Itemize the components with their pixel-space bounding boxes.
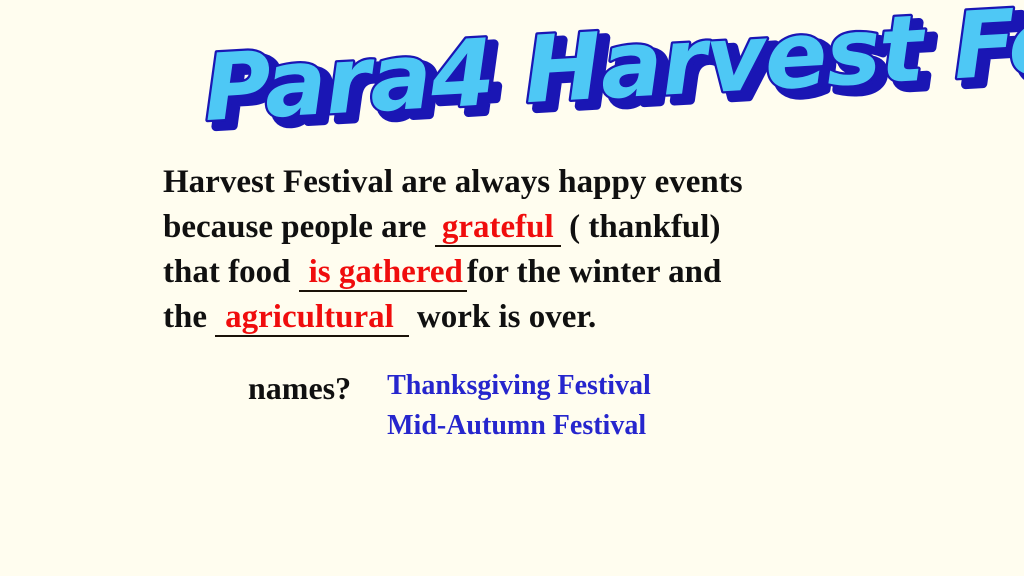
paragraph-line-2-suffix: ( thankful)	[561, 209, 721, 245]
wordart-svg: Para4 Harvest Festivals Para4 Harvest Fe…	[0, 2, 1024, 142]
blank-answer-is-gathered: is gathered	[299, 255, 467, 292]
paragraph-line-3: that food is gatheredfor the winter and	[163, 250, 883, 295]
paragraph-line-3-prefix: that food	[163, 254, 299, 290]
paragraph-line-1-text: Harvest Festival are always happy events	[163, 164, 743, 200]
paragraph-line-1: Harvest Festival are always happy events	[163, 160, 883, 205]
festival-name-1: Thanksgiving Festival	[387, 366, 651, 406]
question-answer-block: names? Thanksgiving Festival Mid-Autumn …	[248, 366, 651, 446]
question-prompt: names?	[248, 366, 387, 408]
slide-canvas: Para4 Harvest Festivals Para4 Harvest Fe…	[0, 0, 1024, 576]
paragraph-line-2-prefix: because people are	[163, 209, 435, 245]
blank-answer-grateful: grateful	[435, 210, 561, 247]
festival-name-2: Mid-Autumn Festival	[387, 406, 651, 446]
slide-title-wordart: Para4 Harvest Festivals Para4 Harvest Fe…	[0, 2, 1024, 142]
paragraph-line-4-suffix: work is over.	[409, 299, 597, 335]
wordart-shadow-layer: Para4 Harvest Festivals	[209, 2, 1024, 142]
paragraph-block: Harvest Festival are always happy events…	[163, 160, 883, 340]
blank-answer-agricultural: agricultural	[215, 300, 408, 337]
paragraph-line-4-prefix: the	[163, 299, 215, 335]
paragraph-line-3-suffix: for the winter and	[467, 254, 722, 290]
festival-names-list: Thanksgiving Festival Mid-Autumn Festiva…	[387, 366, 651, 446]
wordart-fill-layer: Para4 Harvest Festivals	[201, 2, 1024, 142]
paragraph-line-2: because people are grateful ( thankful)	[163, 205, 883, 250]
paragraph-line-4: the agricultural work is over.	[163, 295, 883, 340]
